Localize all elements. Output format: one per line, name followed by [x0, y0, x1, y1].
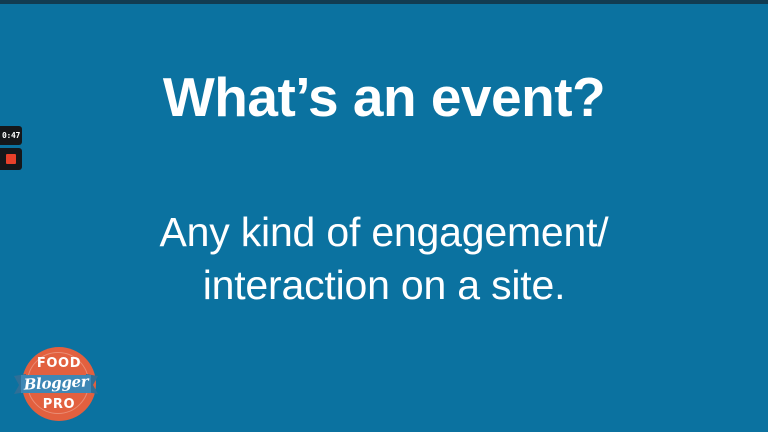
- stop-square-icon[interactable]: [6, 154, 16, 164]
- page-title: What’s an event?: [0, 68, 768, 127]
- logo-text-food: FOOD: [22, 356, 96, 371]
- recorder-controls[interactable]: [0, 148, 22, 170]
- logo-text-pro: PRO: [22, 397, 96, 412]
- food-blogger-pro-logo: FOOD Blogger PRO: [8, 343, 104, 432]
- presentation-slide: What’s an event? Any kind of engagement/…: [0, 0, 768, 432]
- screen-recorder-widget[interactable]: 0:47: [0, 126, 22, 170]
- slide-body-text: Any kind of engagement/ interaction on a…: [0, 206, 768, 313]
- top-edge-strip: [0, 0, 768, 4]
- body-line-2: interaction on a site.: [0, 259, 768, 312]
- recording-timer: 0:47: [0, 126, 22, 145]
- body-line-1: Any kind of engagement/: [0, 206, 768, 259]
